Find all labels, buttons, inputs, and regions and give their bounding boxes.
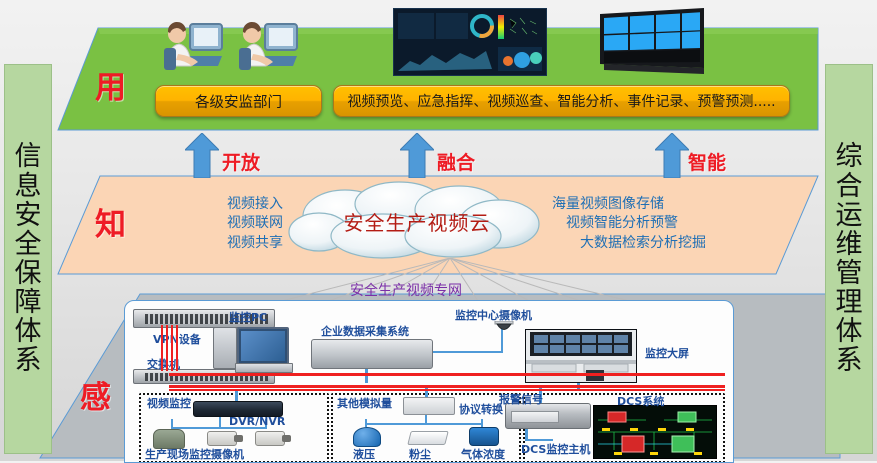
functions-box[interactable]: 视频预览、应急指挥、视频巡查、智能分析、事件记录、预警预测..... (333, 85, 790, 117)
gas-density-label: 气体浓度 (461, 446, 505, 462)
sidebar-right-char-6: 理 (836, 288, 863, 317)
dvr-nvr-label: DVR/NVR (229, 415, 285, 428)
operator-person-2-icon (235, 18, 303, 80)
sidebar-right-char-2: 合 (836, 172, 863, 201)
sidebar-right-char-5: 管 (836, 259, 863, 288)
layer-glyph-know: 知 (95, 199, 126, 244)
alarm-signal-title: 报警信号 (499, 391, 543, 407)
cloud-left-item-3: 视频共享 (118, 234, 283, 253)
protocol-converter-label: 协议转换 (459, 401, 503, 417)
sidebar-left-char-6: 障 (15, 288, 42, 317)
hydraulic-sensor-icon (353, 427, 381, 447)
sidebar-left-info-security: 信 息 安 全 保 障 体 系 (4, 64, 52, 454)
sidebar-right-ops-management: 综 合 运 维 管 理 体 系 (825, 64, 873, 454)
sidebar-right-char-3: 运 (836, 201, 863, 230)
sidebar-right-char-1: 综 (836, 142, 863, 171)
sidebar-left-char-8: 系 (15, 346, 42, 375)
arrow-fuse-icon (400, 133, 434, 178)
dcs-system-photo (593, 405, 717, 459)
site-camera-label: 生产现场监控摄像机 (145, 446, 244, 462)
cloud-right-item-3: 大数据检索分析挖掘 (552, 234, 767, 253)
cloud-left-item-1: 视频接入 (118, 195, 283, 214)
large-screen-label: 监控大屏 (645, 345, 689, 361)
layer-glyph-use: 用 (95, 62, 126, 107)
dcs-host-label: DCS监控主机 (521, 441, 590, 457)
layer-glyph-sense: 感 (80, 372, 111, 417)
sidebar-right-char-8: 系 (836, 346, 863, 375)
gas-sensor-icon (469, 427, 499, 446)
video-surveillance-title: 视频监控 (147, 395, 191, 411)
control-center-camera-label: 监控中心摄像机 (455, 307, 532, 323)
arrow-label-fuse: 融合 (437, 148, 475, 175)
data-collection-device-icon (311, 339, 433, 369)
arrow-label-smart: 智能 (688, 148, 726, 175)
dust-label: 粉尘 (409, 446, 431, 462)
pc-tower-icon (213, 327, 237, 369)
dcs-system-label: DCS系统 (617, 393, 664, 409)
operator-person-1-icon (160, 18, 228, 80)
arrow-label-open: 开放 (222, 148, 260, 175)
box-camera-1-icon (207, 431, 237, 446)
cloud-right-item-1: 海量视频图像存储 (552, 195, 767, 214)
video-wall-icon (592, 6, 712, 78)
sidebar-right-char-4: 维 (836, 230, 863, 259)
cloud-right-item-2: 视频智能分析预警 (552, 214, 767, 233)
dust-sensor-icon (407, 431, 448, 445)
sidebar-left-char-4: 全 (15, 230, 42, 259)
sidebar-left-char-7: 体 (15, 317, 42, 346)
video-wall-photo (592, 6, 712, 78)
arrow-smart-icon (655, 133, 689, 178)
data-collection-label: 企业数据采集系统 (321, 323, 409, 339)
analytics-dashboard-photo (393, 8, 547, 76)
keyboard-icon (235, 363, 293, 373)
sidebar-left-char-5: 保 (15, 259, 42, 288)
dept-box[interactable]: 各级安监部门 (155, 85, 322, 117)
cloud-left-item-2: 视频联网 (118, 214, 283, 233)
dashboard-screen-icon (394, 9, 546, 75)
diagram-canvas: 用 知 感 (0, 0, 877, 461)
private-network-label: 安全生产视频专网 (350, 280, 462, 300)
protocol-converter-icon (403, 397, 455, 415)
monitor-pc-label: 监控PC (229, 309, 267, 325)
sidebar-left-char-1: 信 (15, 142, 42, 171)
cloud-right-items: 海量视频图像存储 视频智能分析预警 大数据检索分析挖掘 (552, 195, 767, 253)
pc-monitor-icon (237, 327, 289, 365)
sidebar-left-char-3: 安 (15, 201, 42, 230)
box-camera-2-icon (255, 431, 285, 446)
sidebar-left-char-2: 息 (15, 172, 42, 201)
sidebar-right-char-7: 体 (836, 317, 863, 346)
arrow-open-icon (185, 133, 219, 178)
dome-camera-icon (493, 321, 515, 335)
sense-detail-panel: VPN设备 交换机 监控PC 企业数据采集系统 监控中心摄像机 (124, 300, 734, 463)
dcs-schematic-icon (594, 406, 716, 458)
analog-signal-title: 其他模拟量 (337, 395, 392, 411)
hydraulic-label: 液压 (353, 446, 375, 462)
cloud-title: 安全生产视频云 (283, 207, 551, 236)
cloud-left-items: 视频接入 视频联网 视频共享 (118, 195, 283, 253)
